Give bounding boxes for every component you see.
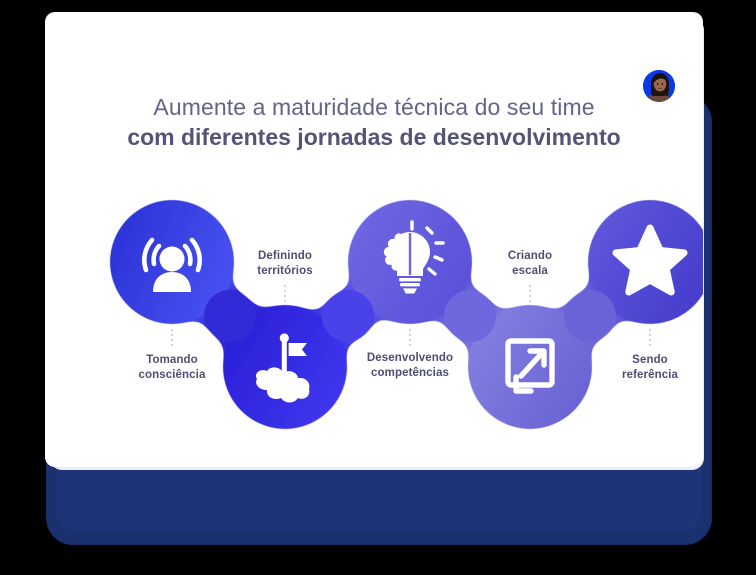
presentation-card: Aumente a maturidade técnica do seu time… [45, 12, 703, 467]
headline-line-1: Aumente a maturidade técnica do seu time [45, 92, 703, 122]
step-label-2: Definindo territórios [225, 249, 345, 279]
headline-line-2: com diferentes jornadas de desenvolvimen… [45, 122, 703, 152]
journey-blob-diagram [90, 177, 703, 467]
screenshot-stage: Aumente a maturidade técnica do seu time… [0, 0, 756, 575]
maturity-journey-infographic: Tomando consciência Definindo território… [90, 177, 703, 467]
page-title: Aumente a maturidade técnica do seu time… [45, 92, 703, 153]
step-label-5: Sendo referência [592, 353, 703, 383]
blob-bridge-4-5 [564, 290, 616, 342]
blob-bridge-3-4 [444, 290, 496, 342]
step-label-1: Tomando consciência [112, 353, 232, 383]
step-label-4: Criando escala [472, 249, 588, 279]
blob-bridge-1-2 [204, 290, 256, 342]
step-label-3: Desenvolvendo competências [338, 351, 482, 381]
blob-bridge-2-3 [322, 290, 374, 342]
